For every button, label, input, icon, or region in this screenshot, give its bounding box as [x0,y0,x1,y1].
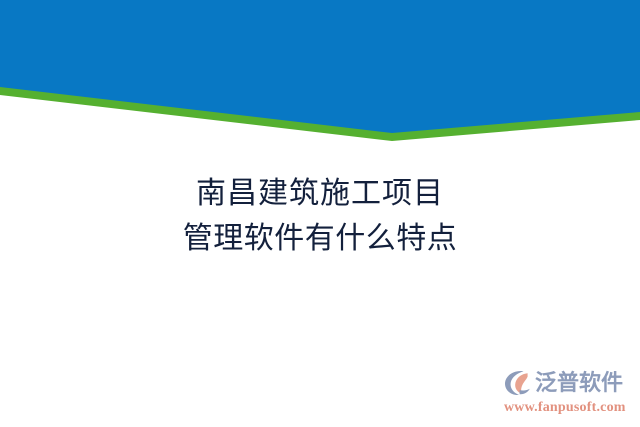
banner-blue-shape [0,0,640,133]
page-title-line-2: 管理软件有什么特点 [0,216,640,261]
brand-name-text: 泛普软件 [535,369,623,397]
fanpu-swoosh-logo-icon [503,369,533,397]
slide-canvas: 南昌建筑施工项目 管理软件有什么特点 泛普软件 www.fanpusoft.co… [0,0,640,427]
brand-logo: 泛普软件 www.fanpusoft.com [503,368,639,418]
page-title-line-1: 南昌建筑施工项目 [0,171,640,216]
brand-website-url: www.fanpusoft.com [504,400,639,416]
page-title: 南昌建筑施工项目 管理软件有什么特点 [0,171,640,261]
brand-logo-row: 泛普软件 [503,368,639,398]
chevron-banner [0,0,640,150]
